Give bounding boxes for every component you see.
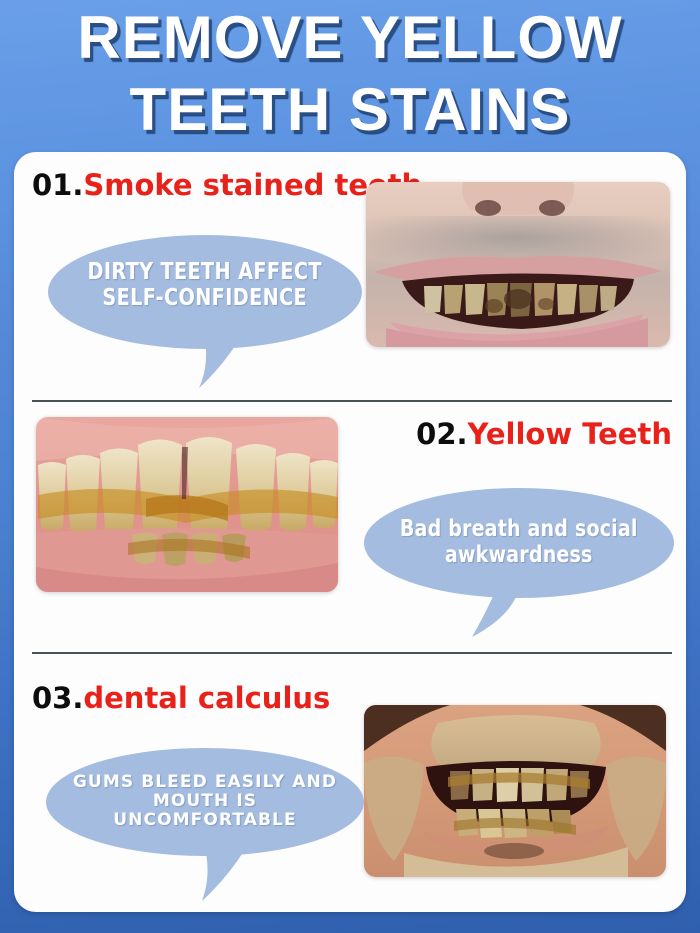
speech-bubble-1-line-1: DIRTY TEETH AFFECT — [78, 260, 332, 286]
speech-bubble-1-line-2: SELF-CONFIDENCE — [78, 286, 332, 312]
photo-dental-calculus — [364, 705, 666, 877]
section-1-number: 01. — [32, 168, 83, 202]
content-card: 01.Smoke stained teeth — [14, 152, 686, 912]
speech-bubble-1-text: DIRTY TEETH AFFECT SELF-CONFIDENCE — [78, 260, 332, 312]
section-dental-calculus: 03.dental calculus — [14, 653, 686, 912]
section-smoke-stained-teeth: 01.Smoke stained teeth — [14, 152, 686, 401]
section-3-number: 03. — [32, 681, 83, 715]
section-2-heading: 02.Yellow Teeth — [416, 417, 672, 451]
photo-yellow-teeth — [36, 417, 338, 592]
speech-bubble-3-line-1: GUMS BLEED EASILY AND — [67, 773, 344, 792]
section-3-heading: 03.dental calculus — [32, 681, 330, 715]
poster-header: REMOVE YELLOW TEETH STAINS — [0, 0, 700, 152]
speech-bubble-2-line-2: awkwardness — [393, 543, 645, 569]
speech-bubble-3-text: GUMS BLEED EASILY AND MOUTH IS UNCOMFORT… — [67, 773, 344, 830]
poster-root: REMOVE YELLOW TEETH STAINS 01.Smoke stai… — [0, 0, 700, 933]
speech-bubble-2-text: Bad breath and social awkwardness — [393, 517, 645, 569]
page-title-line-1: REMOVE YELLOW — [0, 2, 700, 74]
speech-bubble-1: DIRTY TEETH AFFECT SELF-CONFIDENCE — [46, 230, 364, 390]
section-2-number: 02. — [416, 417, 467, 451]
photo-yellow-teeth-image — [36, 417, 338, 592]
section-3-label: dental calculus — [83, 681, 330, 715]
speech-bubble-2: Bad breath and social awkwardness — [360, 485, 678, 645]
photo-smoke-stained-teeth — [366, 182, 670, 347]
photo-dental-calculus-image — [364, 705, 666, 877]
section-yellow-teeth: 02.Yellow Teeth — [14, 401, 686, 653]
speech-bubble-3-line-2: MOUTH IS UNCOMFORTABLE — [67, 792, 344, 830]
page-title-line-2: TEETH STAINS — [0, 74, 700, 146]
speech-bubble-3: GUMS BLEED EASILY AND MOUTH IS UNCOMFORT… — [44, 747, 366, 902]
photo-smoke-stained-teeth-image — [366, 182, 670, 347]
section-2-label: Yellow Teeth — [468, 417, 672, 451]
section-1-heading: 01.Smoke stained teeth — [32, 168, 422, 202]
speech-bubble-2-line-1: Bad breath and social — [393, 517, 645, 543]
